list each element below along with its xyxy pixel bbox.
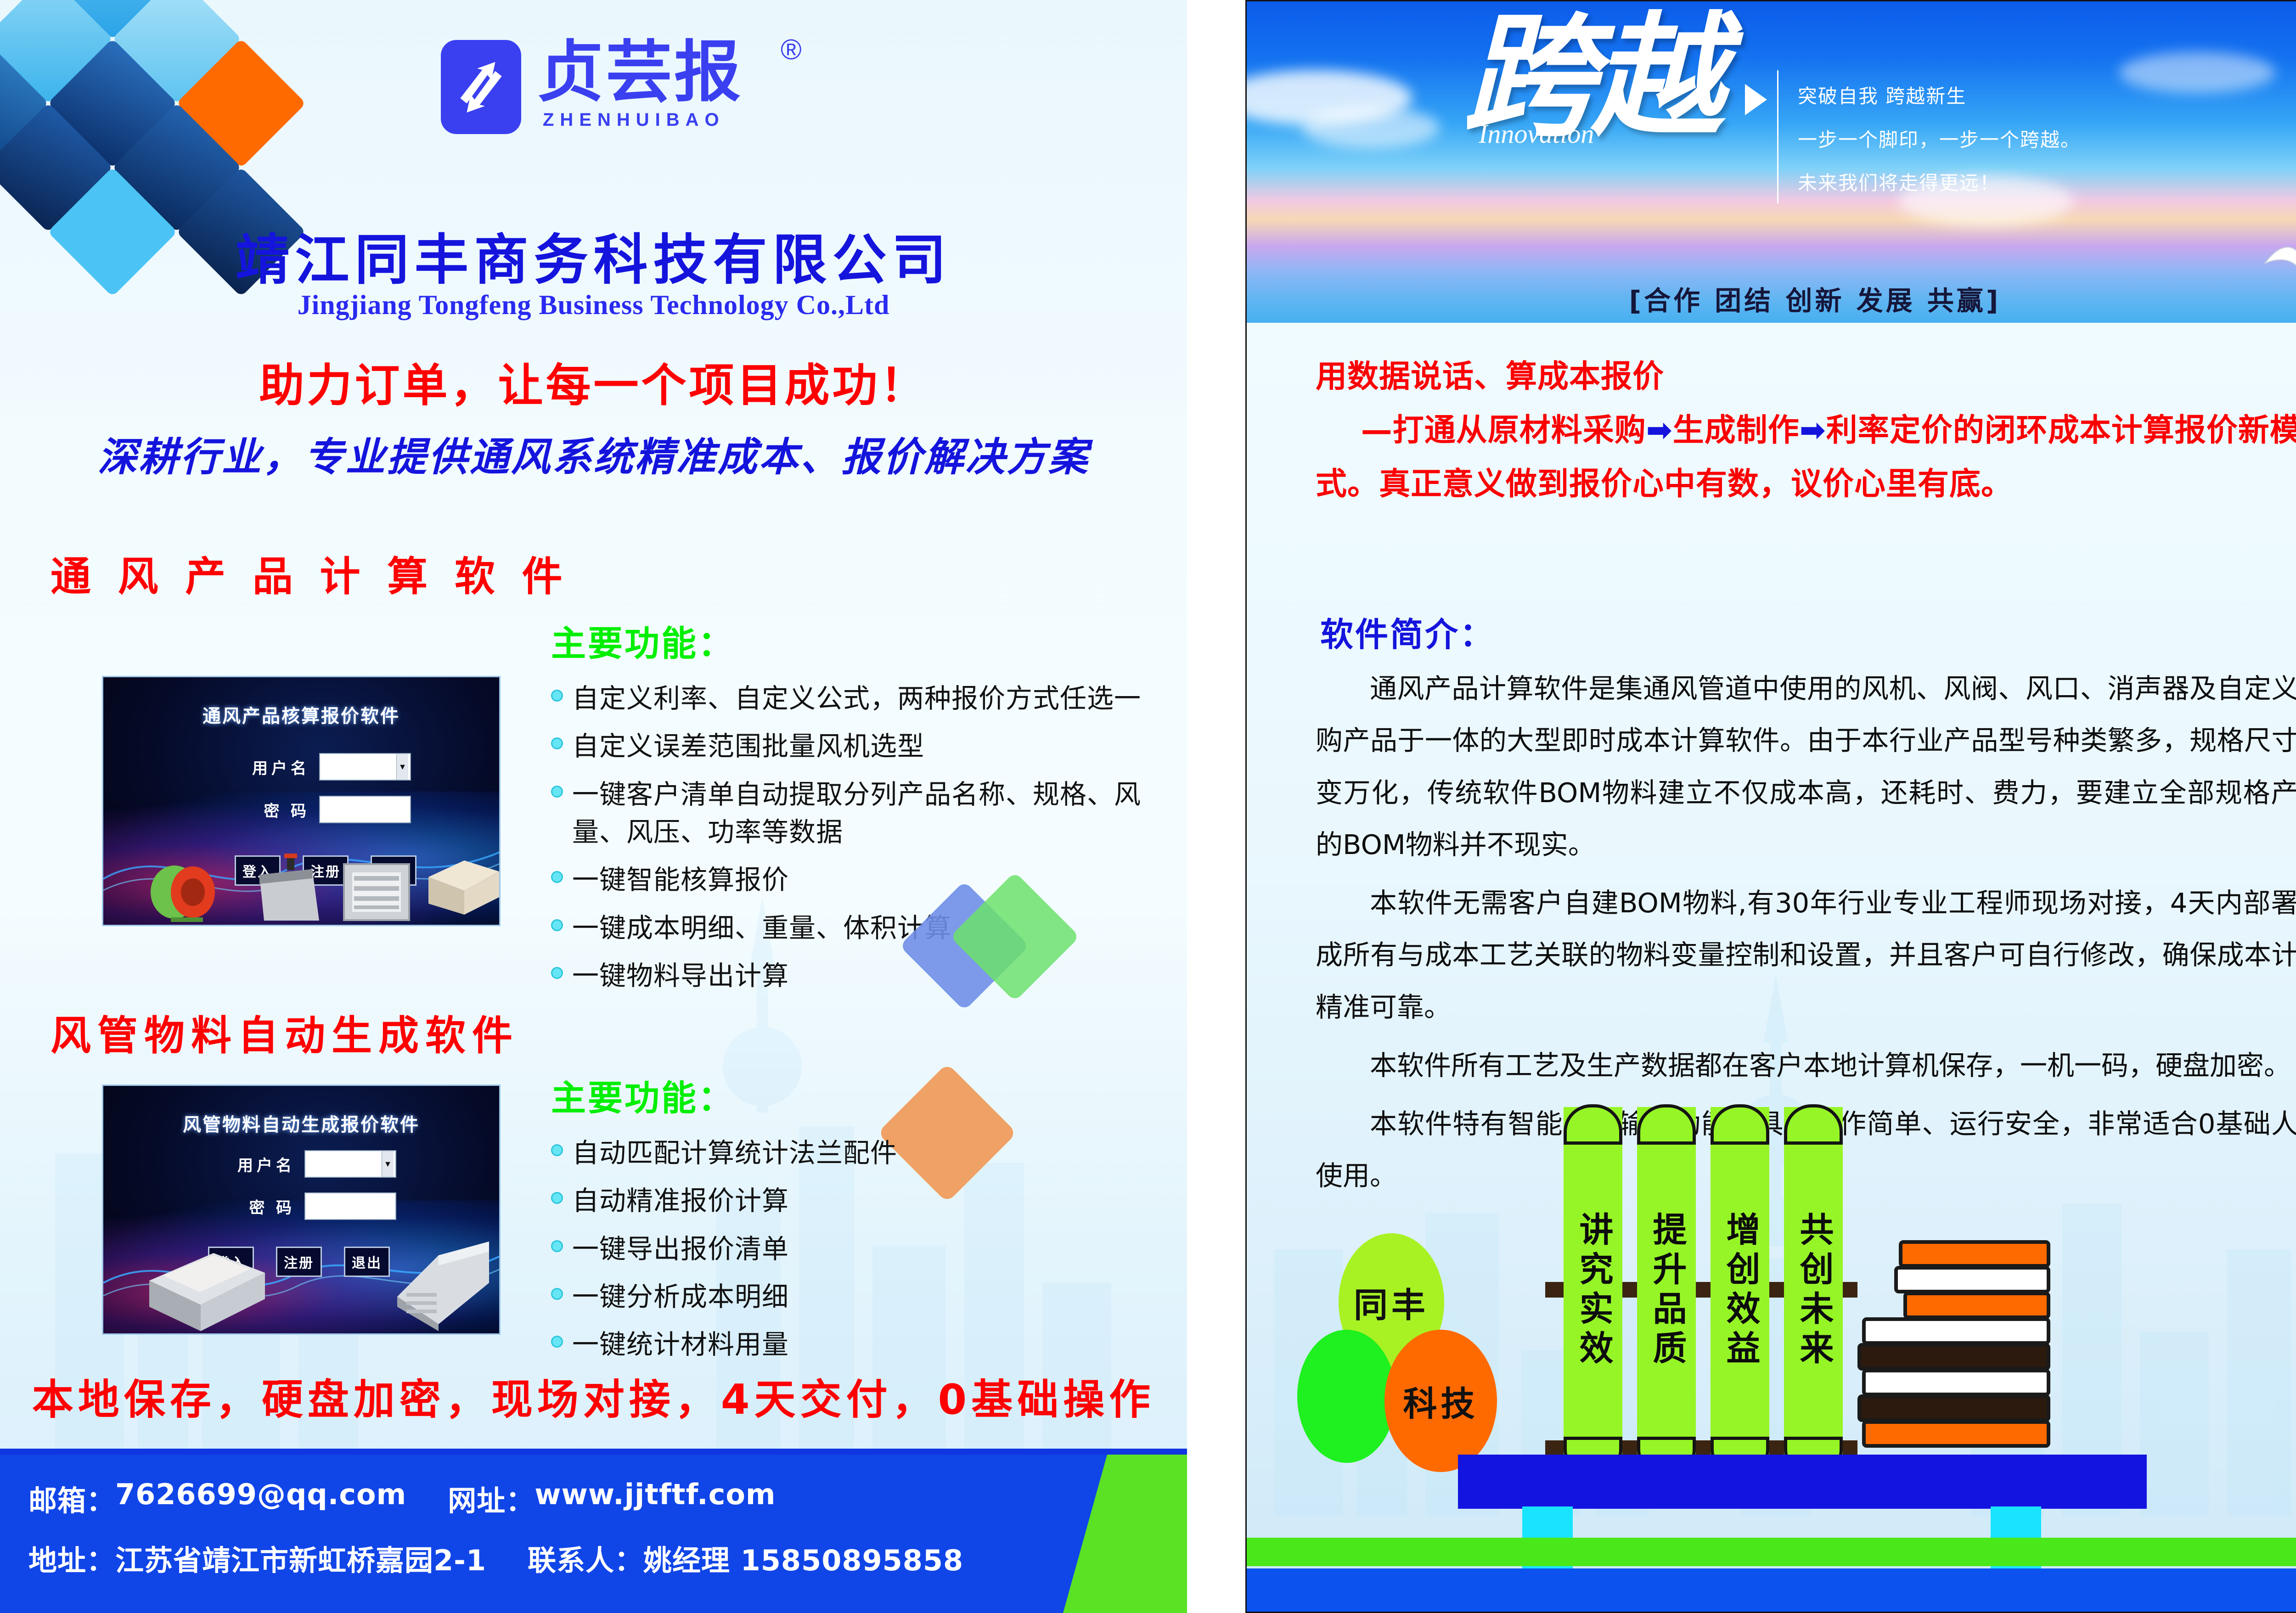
password-input[interactable] bbox=[319, 796, 411, 823]
username-input[interactable]: ▼ bbox=[304, 1150, 396, 1178]
book bbox=[1857, 1394, 2050, 1422]
section-title-ventilation-software: 通 风 产 品 计 算 软 件 bbox=[51, 544, 568, 602]
right-panel-body: 用数据说话、算成本报价 —打通从原材料采购➡生成制作➡利率定价的闭环成本计算报价… bbox=[1247, 323, 2296, 1613]
bubble-green-plain bbox=[1297, 1330, 1396, 1463]
book bbox=[1862, 1317, 2050, 1345]
feature-text: 一键导出报价清单 bbox=[572, 1230, 789, 1268]
scroll-cap-top-icon bbox=[1637, 1104, 1696, 1145]
bullet-icon bbox=[551, 1192, 563, 1204]
bullet-icon bbox=[551, 737, 563, 749]
hero-tagline-3: 未来我们将走得更远！ bbox=[1798, 162, 2081, 205]
grille-product-image bbox=[342, 862, 411, 922]
screenshot-title: 通风产品核算报价软件 bbox=[103, 701, 499, 728]
play-triangle-icon bbox=[1745, 84, 1767, 115]
scroll-banner-1: 讲究实效 bbox=[1564, 1107, 1622, 1474]
bullet-icon bbox=[551, 1288, 563, 1300]
email-label: 邮箱： bbox=[28, 1478, 115, 1519]
cloud-decoration bbox=[1302, 107, 1440, 148]
password-label: 密 码 bbox=[226, 1195, 295, 1218]
bullet-icon bbox=[551, 871, 563, 883]
bench-top bbox=[1458, 1455, 2147, 1509]
software-intro-heading: 软件简介： bbox=[1320, 607, 1495, 656]
scroll-banner-3: 增创效益 bbox=[1711, 1107, 1769, 1474]
software-screenshot-ventilation: 通风产品核算报价软件 用户名 ▼ 密 码 登入 注册 退出 bbox=[102, 676, 501, 926]
scroll-banner-2: 提升品质 bbox=[1637, 1107, 1696, 1474]
address-label: 地址： bbox=[28, 1537, 115, 1579]
contact-label: 联系人： bbox=[528, 1537, 643, 1579]
value-proposition-block: 用数据说话、算成本报价 —打通从原材料采购➡生成制作➡利率定价的闭环成本计算报价… bbox=[1316, 350, 2296, 511]
green-ground-strip bbox=[1247, 1538, 2296, 1566]
list-item: 自动匹配计算统计法兰配件 bbox=[551, 1134, 1162, 1172]
password-label: 密 码 bbox=[241, 798, 310, 821]
username-input[interactable]: ▼ bbox=[319, 753, 411, 781]
username-label: 用户名 bbox=[226, 1153, 295, 1175]
feature-text: 自定义误差范围批量风机选型 bbox=[572, 727, 924, 765]
scroll-text: 讲究实效 bbox=[1576, 1212, 1610, 1370]
cloud-decoration bbox=[2119, 52, 2275, 93]
book bbox=[1903, 1292, 2050, 1319]
password-input[interactable] bbox=[304, 1192, 396, 1220]
registered-mark-icon: ® bbox=[781, 34, 802, 66]
value-prop-part2: 生成制作 bbox=[1673, 412, 1800, 449]
footer-row-address-contact: 地址： 江苏省靖江市新虹桥嘉园2-1 联系人： 姚经理 15850895858 bbox=[28, 1537, 963, 1579]
intro-paragraph: 本软件无需客户自建BOM物料,有30年行业专业工程师现场对接，4天内部署完成所有… bbox=[1316, 877, 2296, 1033]
left-panel: 贞芸报 ® ZHENHUIBAO 靖江同丰商务科技有限公司 Jingjiang … bbox=[0, 0, 1187, 1613]
bullet-icon bbox=[551, 967, 563, 979]
fan-product-image bbox=[142, 853, 234, 922]
username-label: 用户名 bbox=[241, 756, 310, 778]
list-item: 自定义误差范围批量风机选型 bbox=[551, 727, 1162, 765]
email-value[interactable]: 7626699@qq.com bbox=[115, 1478, 406, 1519]
hero-tagline-2: 一步一个脚印，一步一个跨越。 bbox=[1798, 118, 2081, 162]
intro-paragraph: 通风产品计算软件是集通风管道中使用的风机、风阀、风口、消声器及自定义外购产品于一… bbox=[1316, 663, 2296, 871]
list-item: 一键导出报价清单 bbox=[551, 1230, 1162, 1268]
bullet-icon bbox=[551, 690, 563, 702]
list-item: 一键物料导出计算 bbox=[551, 957, 1162, 995]
right-panel: 跨越 Innovation 突破自我 跨越新生 一步一个脚印，一步一个跨越。 未… bbox=[1245, 0, 2296, 1613]
feature-text: 一键成本明细、重量、体积计算 bbox=[572, 909, 951, 947]
footer-green-wedge bbox=[1049, 1455, 1187, 1613]
hero-innovation-text: Innovation bbox=[1479, 118, 1594, 149]
list-item: 一键统计材料用量 bbox=[551, 1326, 1162, 1363]
logo-chinese-name: 贞芸报 bbox=[537, 39, 743, 106]
hero-tagline-1: 突破自我 跨越新生 bbox=[1798, 75, 2081, 118]
hero-taglines: 突破自我 跨越新生 一步一个脚印，一步一个跨越。 未来我们将走得更远！ bbox=[1798, 75, 2081, 205]
list-item: 自定义利率、自定义公式，两种报价方式任选一 bbox=[551, 680, 1162, 717]
book bbox=[1899, 1240, 2050, 1268]
section-title-duct-material-software: 风管物料自动生成软件 bbox=[51, 1003, 519, 1062]
intro-paragraph: 本软件所有工艺及生产数据都在客户本地计算机保存，一机一码，硬盘加密。 bbox=[1316, 1040, 2296, 1091]
right-arrow-icon: ➡ bbox=[1646, 412, 1673, 449]
logo-arrows-icon bbox=[449, 48, 513, 125]
subheadline-slogan: 深耕行业，专业提供通风系统精准成本、报价解决方案 bbox=[0, 425, 1187, 482]
website-label: 网址： bbox=[448, 1478, 535, 1519]
feature-text: 自动精准报价计算 bbox=[572, 1182, 789, 1220]
book-stack-illustration bbox=[1857, 1236, 2050, 1474]
scroll-text: 提升品质 bbox=[1649, 1212, 1683, 1370]
bullet-icon bbox=[551, 1240, 563, 1252]
feature-text: 一键客户清单自动提取分列产品名称、规格、风量、风压、功率等数据 bbox=[572, 776, 1162, 851]
software-screenshot-duct: 风管物料自动生成报价软件 用户名 ▼ 密 码 登入 注册 退出 bbox=[102, 1085, 501, 1335]
duct-elbow-product-image bbox=[379, 1228, 494, 1333]
contact-footer: 邮箱： 7626699@qq.com 网址： www.jjtftf.com 地址… bbox=[0, 1455, 1187, 1613]
chevron-down-icon[interactable]: ▼ bbox=[382, 1151, 394, 1177]
hero-sky-background bbox=[1247, 1, 2296, 323]
book bbox=[1857, 1343, 2050, 1371]
feature-text: 一键统计材料用量 bbox=[572, 1326, 789, 1363]
value-prop-heading: 用数据说话、算成本报价 bbox=[1316, 359, 1664, 395]
website-value[interactable]: www.jjtftf.com bbox=[535, 1478, 776, 1519]
list-item: 一键智能核算报价 bbox=[551, 861, 1162, 899]
logo-pinyin: ZHENHUIBAO bbox=[543, 110, 725, 130]
right-arrow-icon: ➡ bbox=[1800, 412, 1826, 449]
headline-slogan: 助力订单，让每一个项目成功！ bbox=[0, 349, 1187, 414]
scroll-text: 增创效益 bbox=[1723, 1212, 1757, 1370]
hero-vertical-divider bbox=[1777, 70, 1778, 203]
feature-list-duct: 主要功能： 自动匹配计算统计法兰配件 自动精准报价计算 一键导出报价清单 一键分… bbox=[551, 1070, 1162, 1374]
bullet-icon bbox=[551, 786, 563, 798]
bullet-icon bbox=[551, 1144, 563, 1156]
address-value: 江苏省靖江市新虹桥嘉园2-1 bbox=[115, 1537, 486, 1579]
contact-value: 姚经理 15850895858 bbox=[643, 1537, 963, 1579]
duct-product-image bbox=[420, 853, 501, 917]
register-button[interactable]: 注册 bbox=[276, 1247, 322, 1277]
bullet-icon bbox=[551, 1336, 563, 1348]
book bbox=[1894, 1266, 2050, 1293]
seagull-icon bbox=[2262, 231, 2296, 281]
book bbox=[1862, 1369, 2050, 1396]
list-item: 一键客户清单自动提取分列产品名称、规格、风量、风压、功率等数据 bbox=[551, 776, 1162, 851]
bottom-illustration: 同丰 科技 讲究实效 提升品质 增创效益 bbox=[1247, 1174, 2296, 1613]
damper-product-image bbox=[250, 852, 324, 923]
brand-logo: 贞芸报 ® ZHENHUIBAO bbox=[413, 25, 827, 149]
list-item: 一键分析成本明细 bbox=[551, 1278, 1162, 1315]
feature-list-ventilation: 主要功能： 自定义利率、自定义公式，两种报价方式任选一 自定义误差范围批量风机选… bbox=[551, 615, 1162, 1005]
value-prop-part1: —打通从原材料采购 bbox=[1361, 412, 1646, 449]
footer-row-email-web: 邮箱： 7626699@qq.com 网址： www.jjtftf.com bbox=[28, 1478, 776, 1519]
promise-banner: 本地保存，硬盘加密，现场对接，4天交付，0基础操作 bbox=[0, 1366, 1187, 1426]
feature-text: 一键物料导出计算 bbox=[572, 957, 789, 995]
chevron-down-icon[interactable]: ▼ bbox=[396, 754, 408, 780]
bubble-keji: 科技 bbox=[1384, 1330, 1497, 1472]
bullet-icon bbox=[551, 919, 563, 931]
core-values-line: [合作 团结 创新 发展 共赢] bbox=[1247, 279, 2296, 318]
feature-list-heading: 主要功能： bbox=[551, 1070, 1162, 1120]
scroll-cap-top-icon bbox=[1711, 1104, 1769, 1145]
list-item: 自动精准报价计算 bbox=[551, 1182, 1162, 1220]
scroll-cap-top-icon bbox=[1564, 1104, 1622, 1145]
logo-mark-icon bbox=[441, 40, 521, 134]
feature-text: 自定义利率、自定义公式，两种报价方式任选一 bbox=[572, 680, 1141, 717]
company-name-en: Jingjiang Tongfeng Business Technology C… bbox=[0, 289, 1187, 321]
feature-text: 一键分析成本明细 bbox=[572, 1278, 789, 1315]
feature-list-heading: 主要功能： bbox=[551, 615, 1162, 666]
duct-box-product-image bbox=[145, 1237, 269, 1333]
scroll-cap-top-icon bbox=[1784, 1104, 1843, 1145]
screenshot-title: 风管物料自动生成报价软件 bbox=[103, 1110, 499, 1136]
book bbox=[1862, 1420, 2050, 1448]
poster-page: 贞芸报 ® ZHENHUIBAO 靖江同丰商务科技有限公司 Jingjiang … bbox=[0, 0, 2296, 1613]
scroll-text: 共创未来 bbox=[1796, 1212, 1830, 1370]
feature-text: 自动匹配计算统计法兰配件 bbox=[572, 1134, 897, 1172]
company-name-cn: 靖江同丰商务科技有限公司 bbox=[0, 216, 1187, 294]
scroll-banner-4: 共创未来 bbox=[1784, 1107, 1843, 1474]
feature-text: 一键智能核算报价 bbox=[572, 861, 789, 899]
blue-bottom-strip bbox=[1247, 1568, 2296, 1613]
